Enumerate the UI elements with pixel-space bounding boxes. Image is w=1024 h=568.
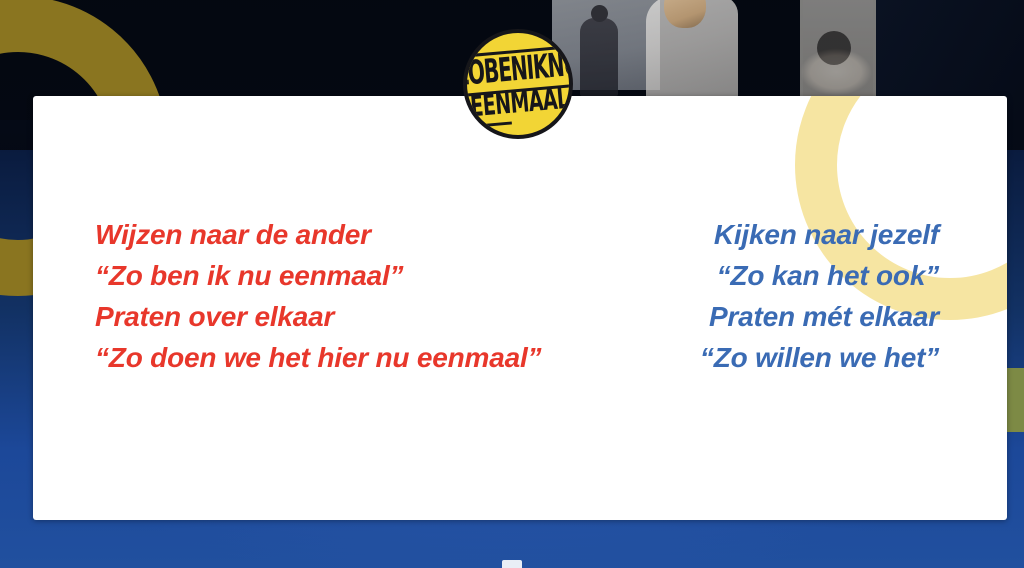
right-line-1: Kijken naar jezelf [599, 214, 939, 255]
logo-line-2-maal: MAAL [509, 80, 570, 120]
right-line-2: “Zo kan het ook” [599, 255, 939, 296]
background-screen-person [580, 18, 618, 96]
logo-line-2-een: EEN [469, 85, 512, 128]
bottom-notch [502, 560, 522, 568]
left-line-4: “Zo doen we het hier nu eenmaal” [95, 337, 541, 378]
logo-inner: ZOBENIKNU EENMAAL [463, 51, 573, 118]
column-pointing-at-others: Wijzen naar de ander “Zo ben ik nu eenma… [95, 214, 541, 378]
text-columns: Wijzen naar de ander “Zo ben ik nu eenma… [33, 96, 1007, 520]
column-looking-at-yourself: Kijken naar jezelf “Zo kan het ook” Prat… [599, 214, 939, 378]
left-line-1: Wijzen naar de ander [95, 214, 541, 255]
right-line-4: “Zo willen we het” [599, 337, 939, 378]
background-wall-picture [800, 0, 876, 102]
logo-line-2: EENMAAL [463, 81, 573, 121]
right-line-3: Praten mét elkaar [599, 296, 939, 337]
left-line-3: Praten over elkaar [95, 296, 541, 337]
left-line-2: “Zo ben ik nu eenmaal” [95, 255, 541, 296]
olive-band-decoration [1006, 368, 1024, 432]
content-card: Wijzen naar de ander “Zo ben ik nu eenma… [33, 96, 1007, 520]
presentation-slide: Wijzen naar de ander “Zo ben ik nu eenma… [0, 0, 1024, 568]
zobeniknueenmaal-logo: ZOBENIKNU EENMAAL [463, 29, 573, 139]
